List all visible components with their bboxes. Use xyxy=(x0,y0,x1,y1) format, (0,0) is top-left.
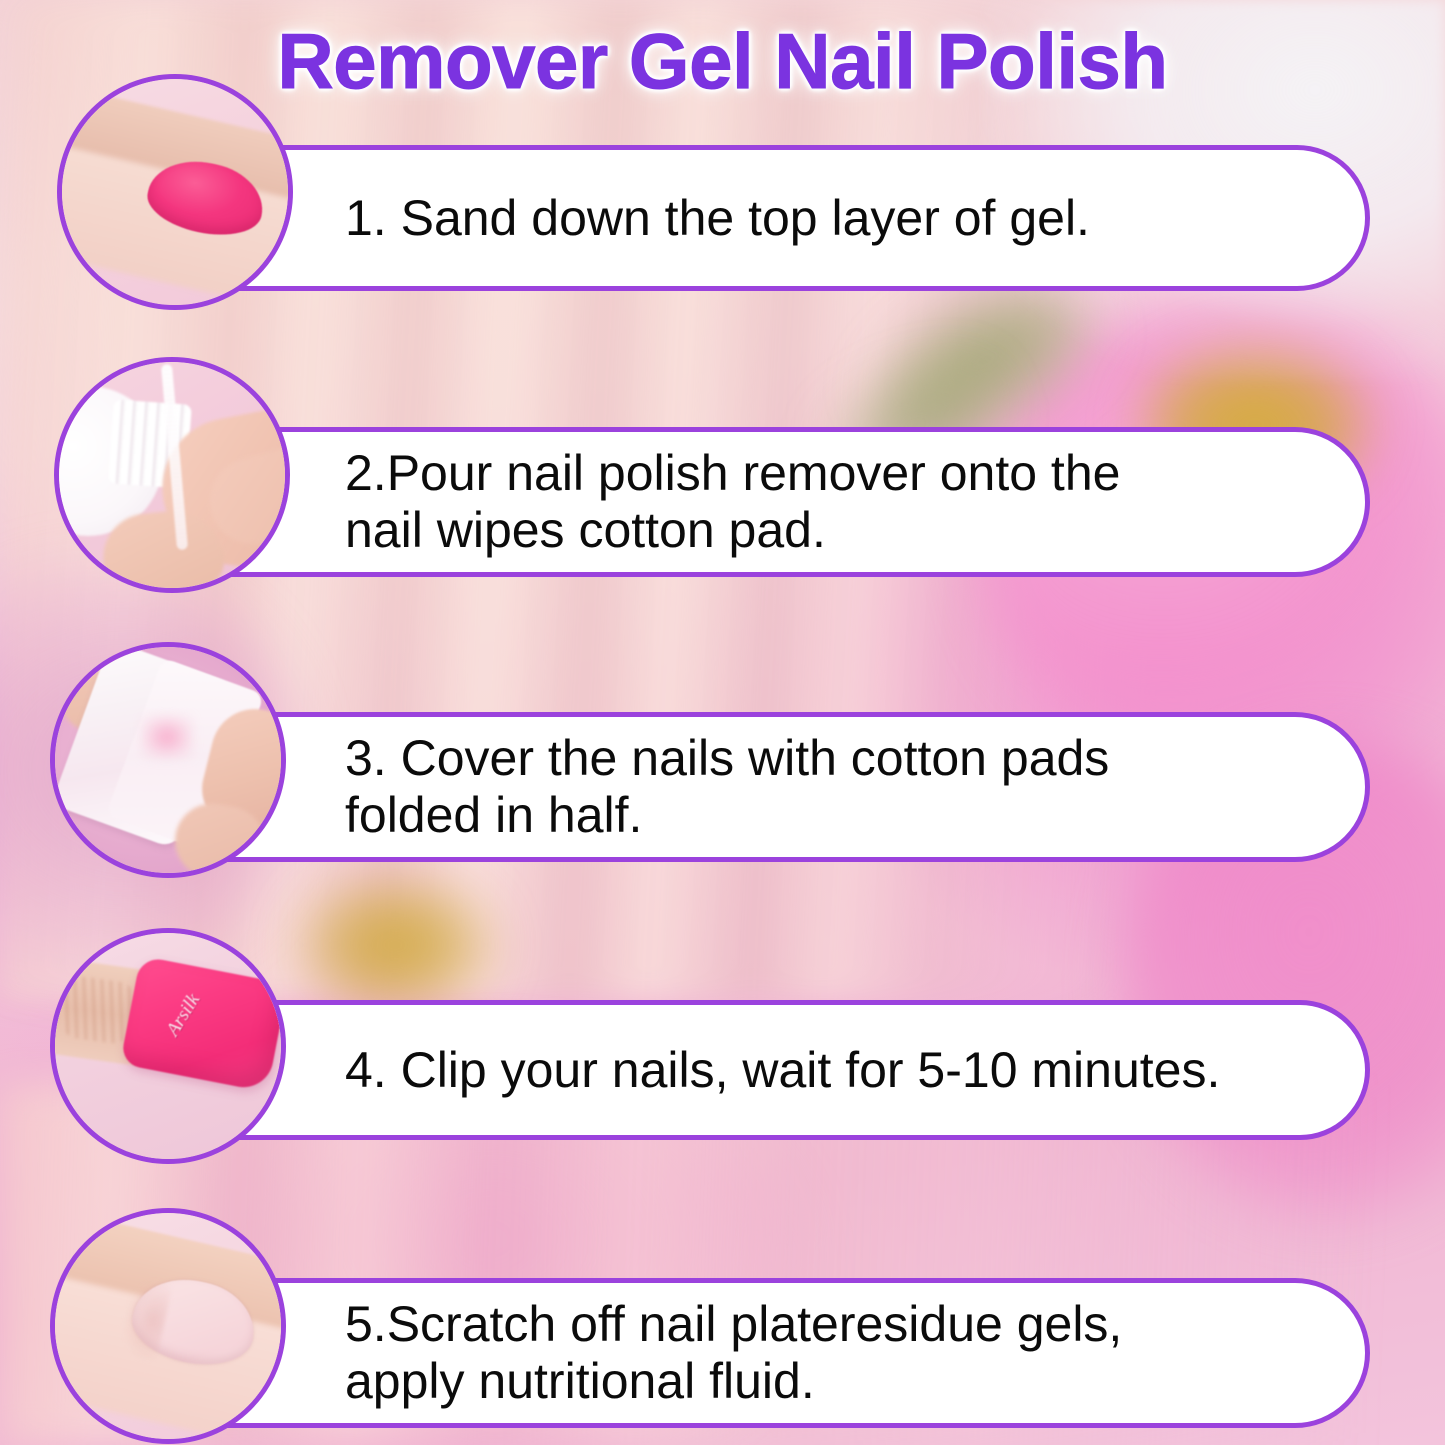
step-text-3: 3. Cover the nails with cotton pads fold… xyxy=(145,730,1109,844)
pink-nail-clip-on-finger-image: Arsilk xyxy=(55,933,281,1159)
step-text-4: 4. Clip your nails, wait for 5-10 minute… xyxy=(145,1042,1220,1099)
step-photo-1 xyxy=(57,74,293,310)
step-text-2: 2.Pour nail polish remover onto the nail… xyxy=(145,445,1120,559)
folded-cotton-pad-in-fingers-image xyxy=(55,647,281,873)
step-photo-4: Arsilk xyxy=(50,928,286,1164)
finger-with-pink-gel-polish-image xyxy=(62,79,288,305)
pouring-remover-onto-cotton-pad-image xyxy=(59,362,285,588)
step-photo-3 xyxy=(50,642,286,878)
step-photo-2 xyxy=(54,357,290,593)
infographic-poster: Remover Gel Nail Polish 1. Sand down the… xyxy=(0,0,1445,1445)
step-box-2: 2.Pour nail polish remover onto the nail… xyxy=(140,427,1370,577)
step-box-3: 3. Cover the nails with cotton pads fold… xyxy=(140,712,1370,862)
pad-pink-stain xyxy=(141,715,193,759)
bare-natural-nail-image xyxy=(55,1213,281,1439)
step-box-4: 4. Clip your nails, wait for 5-10 minute… xyxy=(140,1000,1370,1140)
step-photo-5 xyxy=(50,1208,286,1444)
step-text-5: 5.Scratch off nail plateresidue gels, ap… xyxy=(145,1296,1122,1410)
background-flower-center-lower xyxy=(300,880,490,1010)
step-box-1: 1. Sand down the top layer of gel. xyxy=(140,145,1370,291)
step-box-5: 5.Scratch off nail plateresidue gels, ap… xyxy=(140,1278,1370,1428)
